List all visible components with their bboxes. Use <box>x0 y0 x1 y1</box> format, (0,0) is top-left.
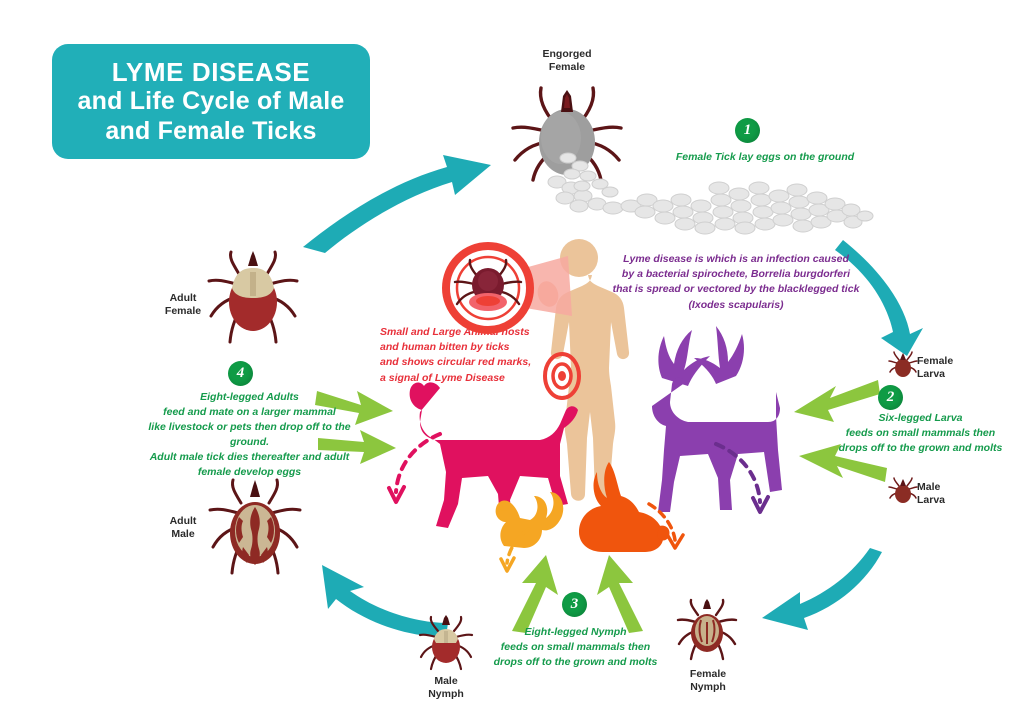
lyme-description-text: Lyme disease is which is an infection ca… <box>598 252 874 313</box>
male-nymph-label: Male Nymph <box>406 675 486 701</box>
male-larva-label: Male Larva <box>917 481 977 507</box>
goat-drop-arrow <box>388 430 448 520</box>
infographic-canvas: LYME DISEASE and Life Cycle of Male and … <box>0 0 1024 721</box>
female-larva-label: Female Larva <box>917 355 977 381</box>
step-badge-1: 1 <box>735 118 760 143</box>
adult-male-label: Adult Male <box>152 515 214 541</box>
step-2-text: Six-legged Larva feeds on small mammals … <box>818 411 1023 456</box>
adult-male-tick-icon <box>205 477 305 577</box>
adult-female-tick-icon <box>205 250 301 346</box>
step-4-text: Eight-legged Adults feed and mate on a l… <box>128 390 371 479</box>
teal-arrow-to-female-nymph <box>760 548 890 638</box>
step-badge-2: 2 <box>878 385 903 410</box>
engorged-female-label: Engorged Female <box>512 48 622 74</box>
magnifier-tick-bite-icon <box>440 244 580 354</box>
female-nymph-label: Female Nymph <box>668 668 748 694</box>
green-arrow-nymph-right <box>595 555 655 633</box>
step-badge-4: 4 <box>228 361 253 386</box>
title-line-1: LYME DISEASE <box>78 57 345 88</box>
deer-drop-arrow <box>712 440 772 530</box>
step-3-text: Eight-legged Nymph feeds on small mammal… <box>483 625 668 670</box>
male-nymph-tick-icon <box>418 615 474 671</box>
rabbit-drop-arrow <box>645 500 693 558</box>
teal-arrow-to-engorged-female <box>295 125 515 255</box>
tick-egg-trail <box>558 150 628 210</box>
step-1-text: Female Tick lay eggs on the ground <box>660 150 870 165</box>
male-larva-tick-icon <box>888 478 918 508</box>
step-badge-3: 3 <box>562 592 587 617</box>
female-larva-tick-icon <box>888 352 918 382</box>
title-line-2: and Life Cycle of Male <box>78 87 345 117</box>
adult-female-label: Adult Female <box>152 292 214 318</box>
female-nymph-tick-icon <box>675 598 739 662</box>
squirrel-drop-arrow <box>495 525 540 580</box>
